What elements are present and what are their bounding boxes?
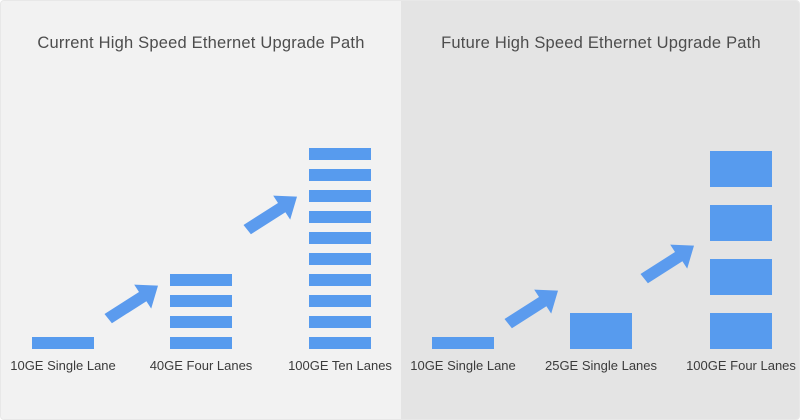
bar-segment-lane bbox=[710, 313, 772, 349]
bar-segment-gap bbox=[309, 181, 371, 190]
bar-segment-gap bbox=[309, 328, 371, 337]
bar-segment-lane bbox=[309, 316, 371, 328]
bar-category-label: 10GE Single Lane bbox=[410, 358, 516, 373]
arrow-25ge-to-100ge-icon bbox=[637, 239, 697, 287]
bar-segment-gap bbox=[170, 286, 232, 295]
panel-current-title: Current High Speed Ethernet Upgrade Path bbox=[1, 34, 401, 53]
bar-stack bbox=[432, 337, 494, 349]
bar-segment-gap bbox=[309, 202, 371, 211]
bar-segment-gap bbox=[170, 328, 232, 337]
bar-segment-lane bbox=[432, 337, 494, 349]
ethernet-upgrade-path-figure: Current High Speed Ethernet Upgrade Path… bbox=[0, 0, 800, 420]
bar-segment-gap bbox=[710, 187, 772, 205]
bar-segment-lane bbox=[570, 313, 632, 349]
bar-category-label: 100GE Ten Lanes bbox=[288, 358, 392, 373]
bar-segment-lane bbox=[170, 337, 232, 349]
bar-stack bbox=[170, 274, 232, 349]
bar-segment-gap bbox=[710, 295, 772, 313]
bar-segment-gap bbox=[309, 286, 371, 295]
bar-segment-lane bbox=[309, 211, 371, 223]
bar-segment-gap bbox=[309, 265, 371, 274]
bar-segment-lane bbox=[309, 232, 371, 244]
bar-category-label: 100GE Four Lanes bbox=[686, 358, 796, 373]
bar-stack bbox=[710, 151, 772, 349]
bar-segment-lane bbox=[710, 205, 772, 241]
bar-segment-lane bbox=[309, 148, 371, 160]
bar-segment-lane bbox=[170, 295, 232, 307]
bar-category-label: 25GE Single Lanes bbox=[545, 358, 657, 373]
bar-stack bbox=[309, 148, 371, 349]
bar-segment-lane bbox=[710, 151, 772, 187]
arrow-10ge-to-40ge-icon bbox=[101, 279, 161, 327]
arrow-40ge-to-100ge-icon bbox=[240, 190, 300, 238]
bar-segment-gap bbox=[710, 241, 772, 259]
bar-segment-gap bbox=[170, 307, 232, 316]
bar-stack bbox=[32, 337, 94, 349]
bar-segment-lane bbox=[309, 169, 371, 181]
bar-segment-gap bbox=[309, 244, 371, 253]
bar-category-label: 10GE Single Lane bbox=[10, 358, 116, 373]
bar-stack bbox=[570, 313, 632, 349]
bar-segment-lane bbox=[309, 337, 371, 349]
panel-future: Future High Speed Ethernet Upgrade Path … bbox=[401, 1, 800, 420]
bar-segment-gap bbox=[309, 223, 371, 232]
arrow-10ge-to-25ge-icon bbox=[501, 284, 561, 332]
bar-segment-lane bbox=[170, 316, 232, 328]
panel-current: Current High Speed Ethernet Upgrade Path… bbox=[1, 1, 401, 420]
panel-future-title: Future High Speed Ethernet Upgrade Path bbox=[401, 34, 800, 53]
bar-segment-lane bbox=[309, 190, 371, 202]
bar-segment-lane bbox=[32, 337, 94, 349]
bar-category-label: 40GE Four Lanes bbox=[150, 358, 253, 373]
bar-segment-lane bbox=[309, 295, 371, 307]
bar-segment-lane bbox=[170, 274, 232, 286]
bar-segment-lane bbox=[710, 259, 772, 295]
bar-segment-lane bbox=[309, 274, 371, 286]
bar-segment-gap bbox=[309, 160, 371, 169]
bar-segment-gap bbox=[309, 307, 371, 316]
bar-segment-lane bbox=[309, 253, 371, 265]
